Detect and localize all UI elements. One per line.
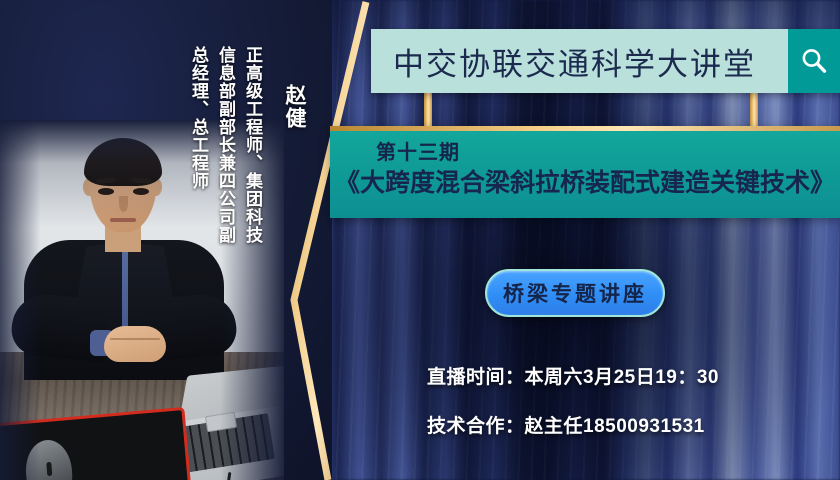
event-info: 直播时间：本周六3月25日19：30 技术合作：赵主任18500931531	[427, 362, 719, 460]
speaker-panel: 赵健 正高级工程师、集团科技 信息部副部长兼四公司副 总经理、总工程师	[0, 0, 332, 480]
broadcast-time: 直播时间：本周六3月25日19：30	[427, 362, 719, 389]
credential-line-2: 信息部副部长兼四公司副	[213, 46, 238, 244]
topic-badge-label: 桥梁专题讲座	[503, 278, 647, 308]
issue-number: 第十三期	[330, 140, 840, 167]
eye-left	[98, 188, 114, 195]
speaker-credentials: 赵健 正高级工程师、集团科技 信息部副部长兼四公司副 总经理、总工程师	[186, 46, 309, 244]
page-title: 中交协联交通科学大讲堂	[393, 39, 756, 84]
gold-connector-right	[750, 93, 758, 129]
contact-info: 技术合作：赵主任18500931531	[427, 411, 719, 438]
eye-right	[133, 188, 149, 195]
lecture-title: 《大跨度混合梁斜拉桥装配式建造关键技术》	[330, 167, 840, 200]
credential-line-1: 正高级工程师、集团科技	[240, 46, 265, 244]
title-banner: 中交协联交通科学大讲堂	[371, 29, 840, 93]
mouth	[110, 218, 136, 222]
nose	[119, 196, 128, 212]
title-box: 中交协联交通科学大讲堂	[371, 29, 788, 93]
topic-badge[interactable]: 桥梁专题讲座	[485, 269, 665, 317]
search-button[interactable]	[788, 29, 840, 93]
gold-connector-left	[424, 93, 432, 129]
speaker-name: 赵健	[279, 84, 309, 130]
search-icon	[799, 46, 829, 76]
clasped-hands	[104, 326, 166, 362]
credential-line-3: 总经理、总工程师	[186, 46, 211, 190]
webinar-poster: 赵健 正高级工程师、集团科技 信息部副部长兼四公司副 总经理、总工程师 中交协联…	[0, 0, 840, 480]
subtitle-panel: 第十三期 《大跨度混合梁斜拉桥装配式建造关键技术》	[330, 126, 840, 218]
